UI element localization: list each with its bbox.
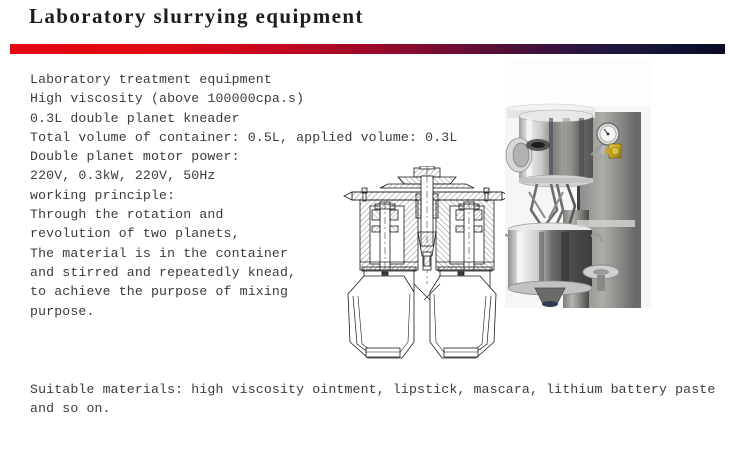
gradient-divider: [10, 44, 725, 54]
drawing-blade-left: [348, 276, 414, 358]
spec-line: Laboratory treatment equipment: [30, 70, 460, 89]
footer-line: and so on.: [30, 400, 710, 419]
spec-line: Total volume of container: 0.5L, applied…: [30, 128, 460, 147]
spec-line: Double planet motor power:: [30, 147, 460, 166]
spec-line: High viscosity (above 100000cpa.s): [30, 89, 460, 108]
kneader-machine-photo: [505, 60, 651, 308]
page-title: Laboratory slurrying equipment: [29, 4, 364, 29]
drawing-center-funnel: [418, 232, 436, 270]
spec-line: 0.3L double planet kneader: [30, 109, 460, 128]
footer-text-block: Suitable materials: high viscosity ointm…: [30, 381, 710, 418]
slide-page: Laboratory slurrying equipment Laborator…: [0, 0, 730, 450]
panel-crossbar: [577, 220, 635, 227]
footer-line: Suitable materials: high viscosity ointm…: [30, 381, 710, 400]
drawing-blade-right: [430, 276, 496, 358]
kneader-cross-section-drawing: [342, 166, 514, 366]
